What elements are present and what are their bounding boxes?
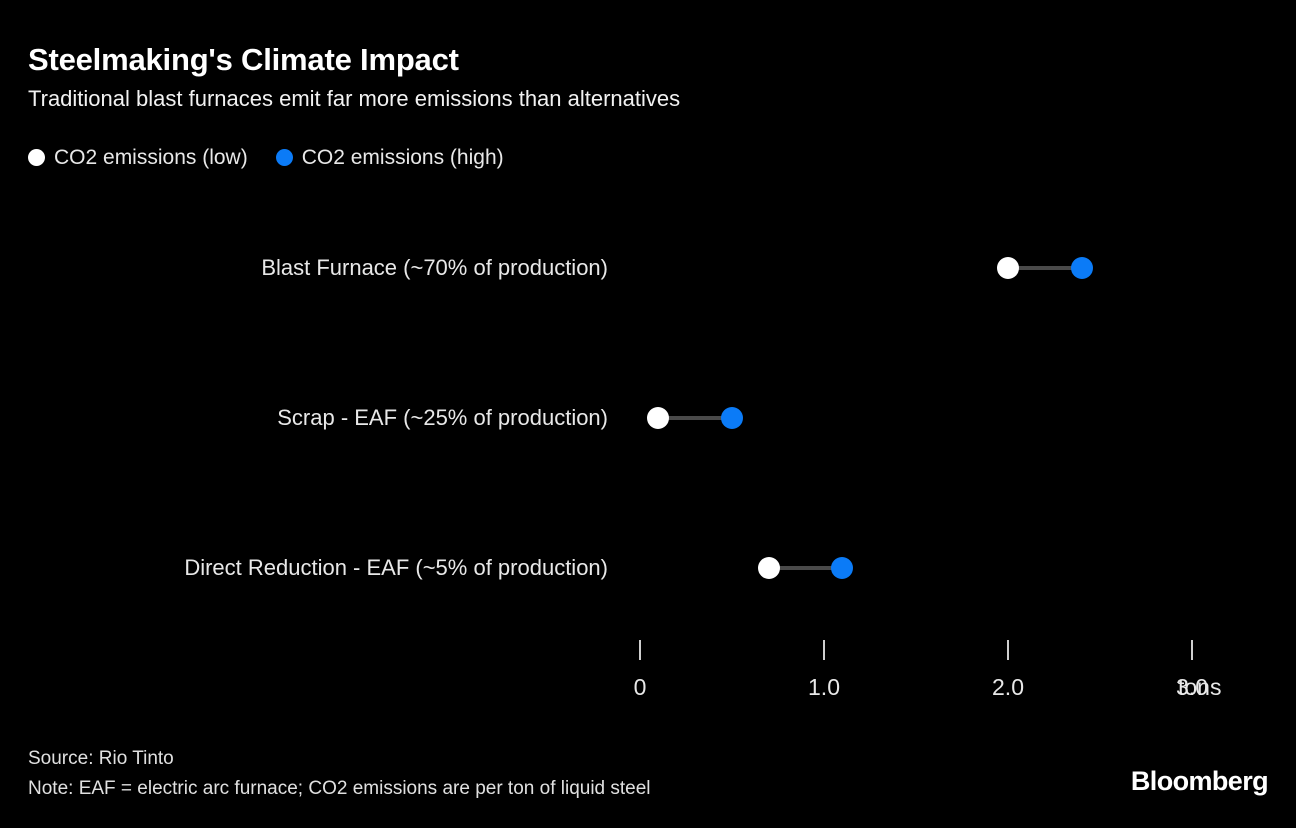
legend-item-low[interactable]: CO2 emissions (low)	[28, 142, 248, 172]
x-axis-tick-label: 3.0	[1176, 676, 1208, 699]
x-axis-unit-label: tons	[1178, 676, 1221, 699]
circle-marker-icon-high	[276, 149, 293, 166]
chart-legend: CO2 emissions (low) CO2 emissions (high)	[28, 142, 504, 172]
chart-plot-area: Blast Furnace (~70% of production)Scrap …	[0, 0, 1296, 828]
chart-row: Scrap - EAF (~25% of production)	[0, 388, 1296, 448]
x-axis-tick	[1007, 640, 1009, 660]
bloomberg-logo: Bloomberg	[1131, 766, 1268, 797]
data-point-high[interactable]	[721, 407, 743, 429]
x-axis-tick	[823, 640, 825, 660]
chart-row: Direct Reduction - EAF (~5% of productio…	[0, 538, 1296, 598]
dumbbell-rows: Blast Furnace (~70% of production)Scrap …	[0, 0, 1296, 828]
data-point-high[interactable]	[1071, 257, 1093, 279]
row-connector-line	[1008, 266, 1082, 270]
row-category-label: Scrap - EAF (~25% of production)	[277, 388, 608, 448]
chart-footer: Source: Rio Tinto Note: EAF = electric a…	[28, 744, 651, 804]
data-point-high[interactable]	[831, 557, 853, 579]
row-category-label: Blast Furnace (~70% of production)	[261, 238, 608, 298]
row-category-label: Direct Reduction - EAF (~5% of productio…	[184, 538, 608, 598]
x-axis-tick-label: 1.0	[808, 676, 840, 699]
source-line: Source: Rio Tinto	[28, 744, 651, 774]
chart-subtitle: Traditional blast furnaces emit far more…	[28, 86, 680, 112]
x-axis-tick	[639, 640, 641, 660]
page-title: Steelmaking's Climate Impact	[28, 42, 459, 78]
data-point-low[interactable]	[758, 557, 780, 579]
circle-marker-icon-low	[28, 149, 45, 166]
data-point-low[interactable]	[997, 257, 1019, 279]
legend-label-high: CO2 emissions (high)	[302, 147, 504, 168]
row-connector-line	[769, 566, 843, 570]
x-axis: tons 01.02.03.0	[0, 0, 1296, 828]
x-axis-tick-label: 0	[634, 676, 647, 699]
x-axis-tick-label: 2.0	[992, 676, 1024, 699]
note-line: Note: EAF = electric arc furnace; CO2 em…	[28, 774, 651, 804]
x-axis-tick	[1191, 640, 1193, 660]
legend-item-high[interactable]: CO2 emissions (high)	[276, 142, 504, 172]
data-point-low[interactable]	[647, 407, 669, 429]
chart-row: Blast Furnace (~70% of production)	[0, 238, 1296, 298]
legend-label-low: CO2 emissions (low)	[54, 147, 248, 168]
row-connector-line	[658, 416, 732, 420]
